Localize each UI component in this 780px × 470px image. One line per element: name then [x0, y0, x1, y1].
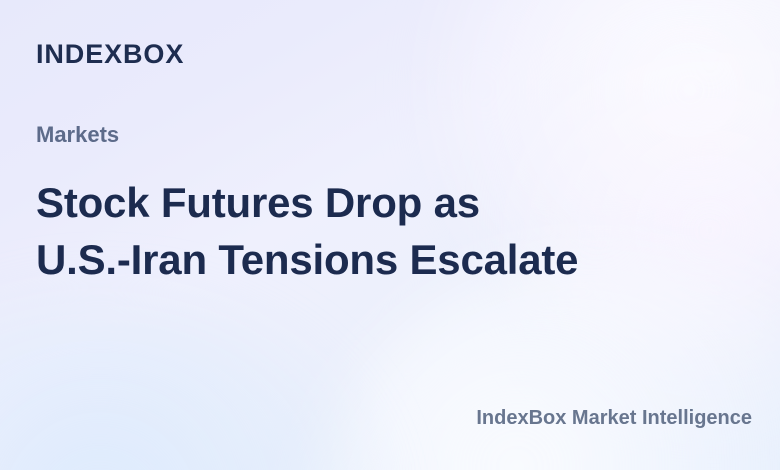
footer-attribution: IndexBox Market Intelligence	[476, 406, 752, 430]
headline-line-1: Stock Futures Drop as	[36, 174, 736, 231]
card-content: INDEXBOX Markets Stock Futures Drop as U…	[0, 0, 780, 470]
category-label: Markets	[36, 124, 119, 146]
article-card: INDEXBOX Markets Stock Futures Drop as U…	[0, 0, 780, 470]
brand-logo: INDEXBOX	[36, 41, 184, 68]
page-title: Stock Futures Drop as U.S.-Iran Tensions…	[36, 174, 736, 288]
headline-line-2: U.S.-Iran Tensions Escalate	[36, 231, 736, 288]
